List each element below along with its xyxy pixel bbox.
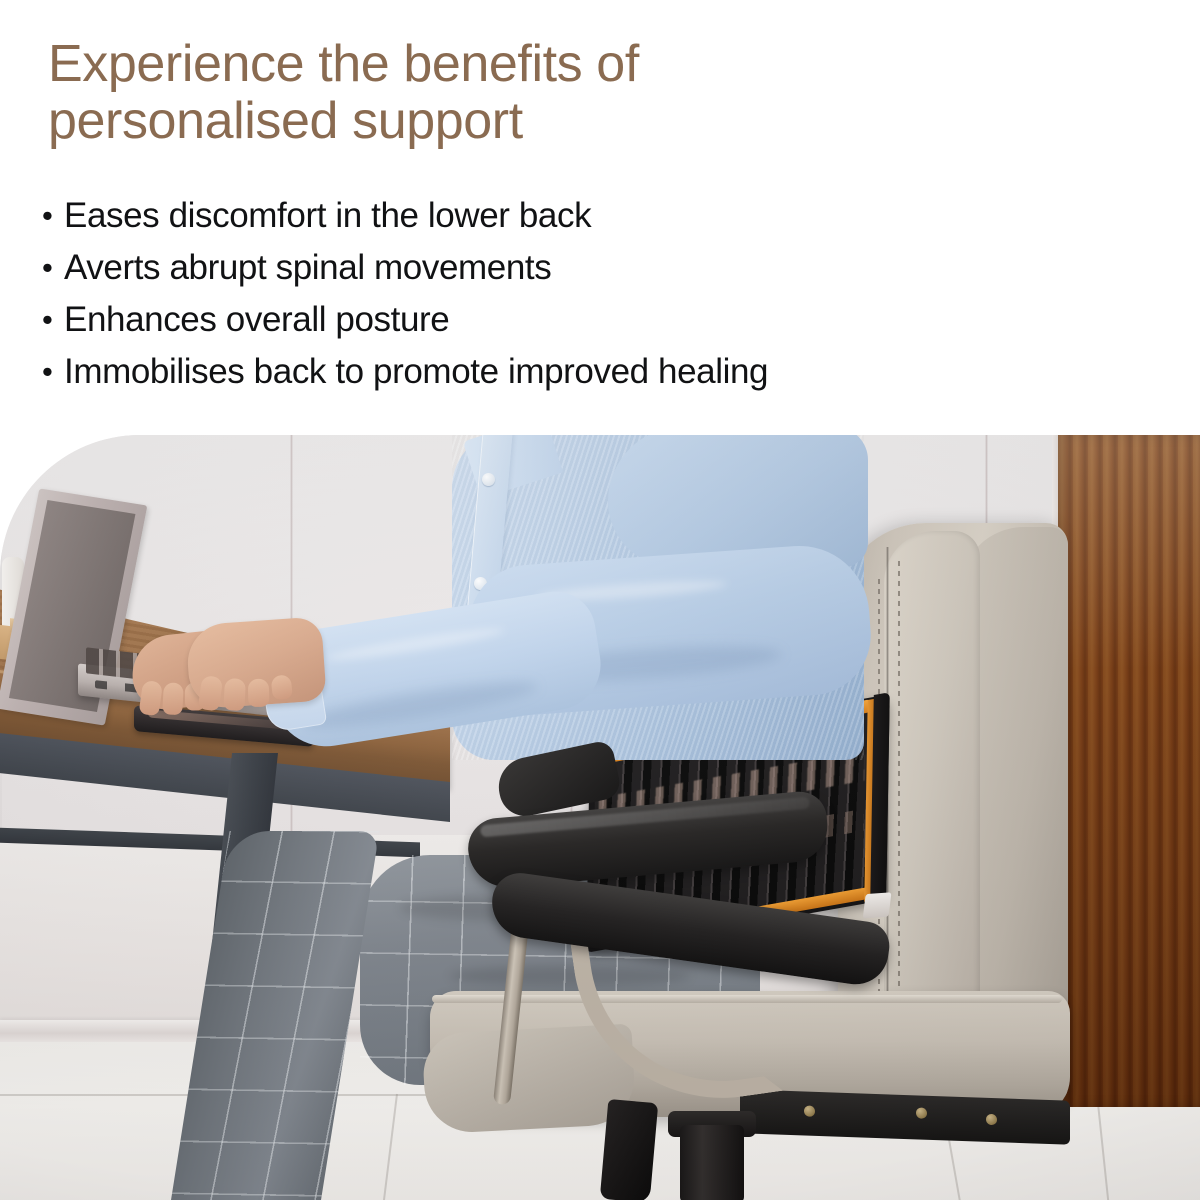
photo-scene (0, 435, 1200, 1200)
product-lifestyle-photo (0, 435, 1200, 1200)
wood-slat-panel (1058, 435, 1200, 1107)
finger (223, 678, 246, 711)
list-item: • Eases discomfort in the lower back (42, 190, 1092, 242)
bullet-icon: • (42, 242, 64, 294)
finger (248, 679, 269, 707)
tile-grout-line (383, 1094, 398, 1200)
finger (271, 674, 293, 700)
bullet-icon: • (42, 190, 64, 242)
shirt-button (482, 473, 495, 486)
chair-gas-cylinder (680, 1125, 744, 1200)
list-item: • Averts abrupt spinal movements (42, 242, 1092, 294)
tile-grout-line (1096, 1094, 1109, 1200)
benefits-list: • Eases discomfort in the lower back • A… (42, 190, 1092, 398)
shirt-shoulder (608, 435, 868, 567)
slat-highlight (1058, 435, 1200, 1107)
brace-fastening-tab (863, 892, 892, 918)
list-item-label: Enhances overall posture (64, 294, 449, 346)
chair-height-lever (600, 1099, 659, 1200)
bullet-icon: • (42, 294, 64, 346)
bullet-icon: • (42, 346, 64, 398)
finger (162, 682, 184, 715)
text-content-block: Experience the benefits of personalised … (0, 0, 1200, 435)
list-item: • Immobilises back to promote improved h… (42, 346, 1092, 398)
finger (198, 675, 224, 712)
mechanism-bolt (986, 1114, 997, 1125)
hand-right (185, 616, 327, 709)
list-item: • Enhances overall posture (42, 294, 1092, 346)
list-item-label: Eases discomfort in the lower back (64, 190, 591, 242)
page-title: Experience the benefits of personalised … (48, 36, 928, 150)
fabric-fold (326, 624, 506, 665)
list-item-label: Averts abrupt spinal movements (64, 242, 551, 294)
mechanism-bolt (916, 1107, 927, 1118)
mechanism-bolt (804, 1105, 815, 1116)
list-item-label: Immobilises back to promote improved hea… (64, 346, 768, 398)
